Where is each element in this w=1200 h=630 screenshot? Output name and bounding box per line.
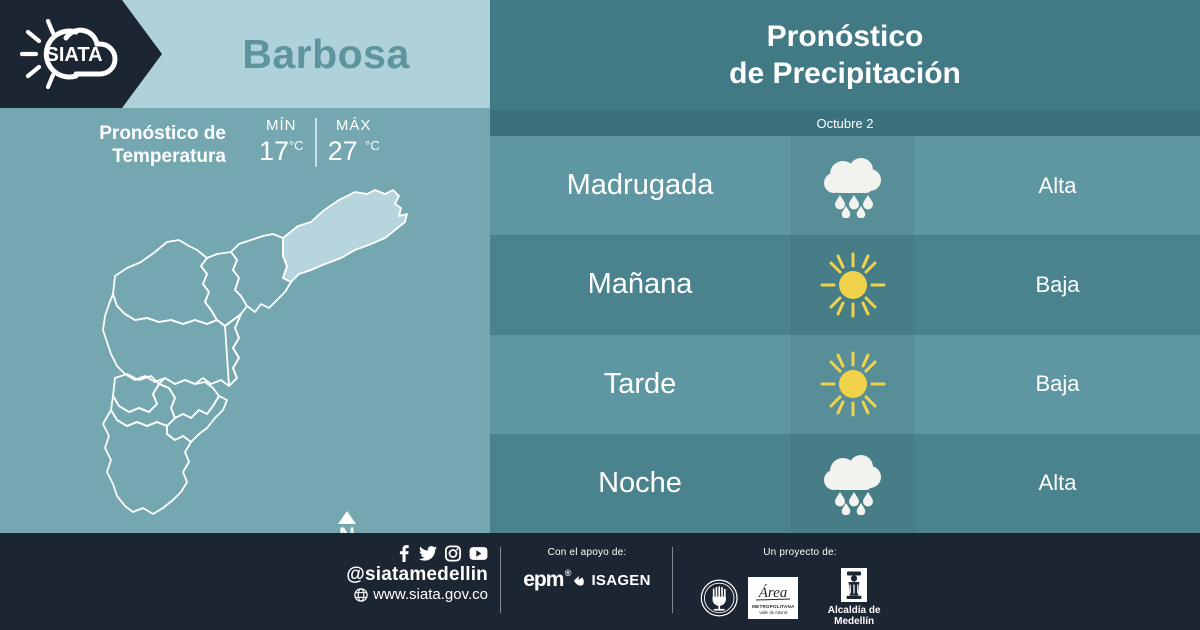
weather-forecast-infographic: SIATA Barbosa Pronóstico de Temperatura …	[0, 0, 1200, 630]
temperature-title: Pronóstico de Temperatura	[99, 118, 226, 168]
temperature-max-label: MÁX	[328, 118, 380, 135]
siata-logo-icon: SIATA	[14, 12, 134, 96]
youtube-icon[interactable]	[469, 545, 488, 562]
forecast-period-cell: Madrugada	[490, 136, 790, 235]
forecast-probability-cell: Baja	[915, 335, 1200, 434]
forecast-icon-cell	[790, 434, 915, 533]
forecast-period-label: Madrugada	[567, 169, 714, 202]
forecast-probability-cell: Alta	[915, 136, 1200, 235]
temperature-max-value: 27 °C	[328, 136, 380, 167]
table-row: Madrugada	[490, 136, 1200, 235]
epm-registered-mark: ®	[565, 568, 571, 578]
area-metropolitana-logo: Área METROPOLITANA Valle de Aburrá	[748, 577, 798, 619]
social-icons	[318, 545, 488, 562]
website-row[interactable]: www.siata.gov.co	[318, 586, 488, 604]
twitter-icon[interactable]	[419, 545, 437, 562]
map-svg	[55, 178, 445, 528]
table-row: Mañana	[490, 235, 1200, 334]
area-metropolitana-sub2: Valle de Aburrá	[759, 610, 787, 615]
alcaldia-label: Alcaldía de Medellín	[808, 605, 900, 627]
temperature-title-line1: Pronóstico de	[99, 122, 226, 145]
area-logo-text: Área	[758, 584, 788, 601]
logo-chevron-banner: SIATA	[0, 0, 162, 108]
alcaldia-emblem-icon	[844, 570, 864, 600]
footer-divider	[500, 547, 501, 613]
support-block: Con el apoyo de: epm® ISAGEN	[512, 547, 662, 592]
temperature-min-number: 17	[259, 136, 289, 166]
map-region-caldas	[103, 410, 191, 514]
universidad-de-antioquia-logo	[700, 578, 738, 618]
forecast-probability-cell: Alta	[915, 434, 1200, 533]
isagen-mark-icon	[573, 573, 589, 588]
temperature-values: MÍN 17°C MÁX 27 °C	[248, 118, 391, 167]
forecast-icon-cell	[790, 136, 915, 235]
page-title-city: Barbosa	[162, 0, 490, 108]
map-region-envigado-south	[167, 396, 227, 442]
support-label: Con el apoyo de:	[512, 547, 662, 558]
map-region-bello	[113, 240, 217, 324]
project-label: Un proyecto de:	[700, 547, 900, 558]
aburra-valley-map: N	[55, 178, 445, 528]
isagen-logo-text: ISAGEN	[591, 572, 650, 589]
forecast-title-line2: de Precipitación	[729, 55, 961, 93]
map-region-envigado	[225, 314, 241, 386]
forecast-probability-cell: Baja	[915, 235, 1200, 334]
footer: @siatamedellin www.siata.gov.co Con el a…	[0, 533, 1200, 630]
forecast-rows: Madrugada	[490, 136, 1200, 533]
social-block: @siatamedellin www.siata.gov.co	[318, 545, 488, 604]
forecast-period-label: Tarde	[604, 368, 677, 401]
map-region-girardota	[231, 234, 291, 312]
map-region-barbosa	[283, 190, 407, 282]
rain-cloud-icon	[816, 154, 890, 218]
alcaldia-medellin-logo	[841, 568, 867, 602]
table-row: Noche	[490, 434, 1200, 533]
forecast-period-cell: Noche	[490, 434, 790, 533]
temperature-max-cell: MÁX 27 °C	[315, 118, 391, 167]
forecast-period-cell: Tarde	[490, 335, 790, 434]
siata-logo-text: SIATA	[45, 44, 102, 66]
status-badge: Alta	[1039, 470, 1077, 496]
forecast-period-label: Mañana	[588, 268, 693, 301]
temperature-min-label: MÍN	[259, 118, 304, 135]
status-badge: Alta	[1039, 173, 1077, 199]
facebook-icon[interactable]	[396, 545, 411, 562]
project-logos: Área METROPOLITANA Valle de Aburrá	[700, 568, 900, 627]
precipitation-forecast-panel: Pronóstico de Precipitación Octubre 2 Ma…	[490, 0, 1200, 533]
social-handle[interactable]: @siatamedellin	[318, 564, 488, 586]
forecast-title-line1: Pronóstico	[729, 18, 961, 56]
support-logos: epm® ISAGEN	[512, 568, 662, 592]
temperature-min-value: 17°C	[259, 136, 304, 167]
epm-logo: epm®	[523, 568, 563, 592]
temperature-min-cell: MÍN 17°C	[248, 118, 315, 167]
temperature-max-unit: °C	[365, 138, 380, 153]
status-badge: Baja	[1035, 371, 1079, 397]
forecast-date-bar: Octubre 2	[490, 110, 1200, 136]
left-panel: SIATA Barbosa Pronóstico de Temperatura …	[0, 0, 490, 533]
alcaldia-group: Alcaldía de Medellín	[808, 568, 900, 627]
instagram-icon[interactable]	[445, 545, 461, 562]
forecast-icon-cell	[790, 335, 915, 434]
map-region-la-estrella	[111, 384, 175, 426]
rain-cloud-icon	[816, 451, 890, 515]
forecast-period-label: Noche	[598, 467, 682, 500]
isagen-logo: ISAGEN	[573, 572, 650, 589]
sun-icon	[818, 349, 888, 419]
globe-icon	[354, 588, 368, 602]
temperature-title-line2: Temperatura	[99, 145, 226, 168]
status-badge: Baja	[1035, 272, 1079, 298]
forecast-period-cell: Mañana	[490, 235, 790, 334]
epm-logo-text: epm	[523, 568, 563, 591]
project-block: Un proyecto de:	[700, 547, 900, 627]
footer-divider	[672, 547, 673, 613]
forecast-icon-cell	[790, 235, 915, 334]
forecast-header: Pronóstico de Precipitación	[490, 0, 1200, 110]
temperature-max-number: 27	[328, 136, 358, 166]
website-url[interactable]: www.siata.gov.co	[373, 586, 488, 604]
area-script-icon: Área	[750, 580, 796, 604]
table-row: Tarde	[490, 335, 1200, 434]
sun-icon	[818, 250, 888, 320]
map-region-medellin	[103, 294, 241, 386]
temperature-min-unit: °C	[289, 138, 304, 153]
city-header-band: SIATA Barbosa	[0, 0, 490, 108]
forecast-date: Octubre 2	[816, 116, 873, 131]
forecast-title: Pronóstico de Precipitación	[729, 18, 961, 93]
